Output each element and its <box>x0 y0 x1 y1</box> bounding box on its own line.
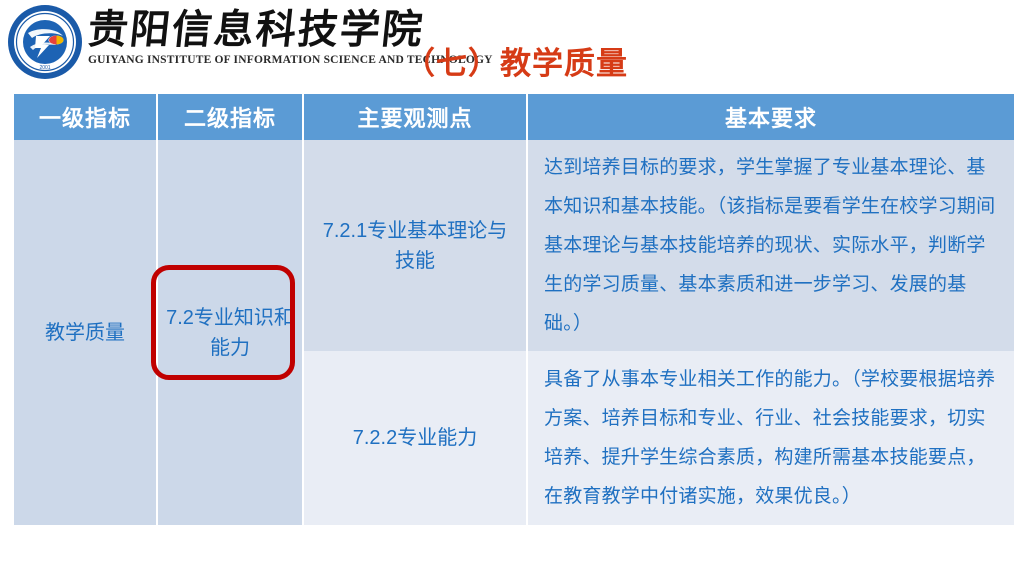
column-header-level1: 一级指标 <box>14 94 156 140</box>
column-header-level2: 二级指标 <box>158 94 302 140</box>
slide-header: 2001 贵阳信息科技学院 GUIYANG INSTITUTE OF INFOR… <box>0 0 1024 88</box>
column-header-observation: 主要观测点 <box>304 94 526 140</box>
cell-level2-indicator: 7.2专业知识和能力 <box>158 140 302 525</box>
indicator-table: 一级指标 二级指标 主要观测点 基本要求 教学质量 7.2专业知识和能力 7.2… <box>12 94 1016 525</box>
school-name-cn: 贵阳信息科技学院 <box>85 2 411 58</box>
cell-level1-indicator: 教学质量 <box>14 140 156 525</box>
column-header-requirement: 基本要求 <box>528 94 1014 140</box>
svg-text:2001: 2001 <box>39 65 50 71</box>
cell-basic-requirement-1: 达到培养目标的要求，学生掌握了专业基本理论、基本知识和基本技能。（该指标是要看学… <box>528 140 1014 351</box>
cell-observation-point-1: 7.2.1专业基本理论与技能 <box>304 140 526 351</box>
page-title: （七）教学质量 <box>404 38 628 83</box>
table-row: 教学质量 7.2专业知识和能力 7.2.1专业基本理论与技能 达到培养目标的要求… <box>14 140 1014 351</box>
cell-observation-point-2: 7.2.2专业能力 <box>304 351 526 525</box>
table-header-row: 一级指标 二级指标 主要观测点 基本要求 <box>14 94 1014 140</box>
cell-basic-requirement-2: 具备了从事本专业相关工作的能力。（学校要根据培养方案、培养目标和专业、行业、社会… <box>528 351 1014 525</box>
school-crest-icon: 2001 <box>6 3 84 81</box>
school-name-block: 贵阳信息科技学院 GUIYANG INSTITUTE OF INFORMATIO… <box>88 2 408 82</box>
